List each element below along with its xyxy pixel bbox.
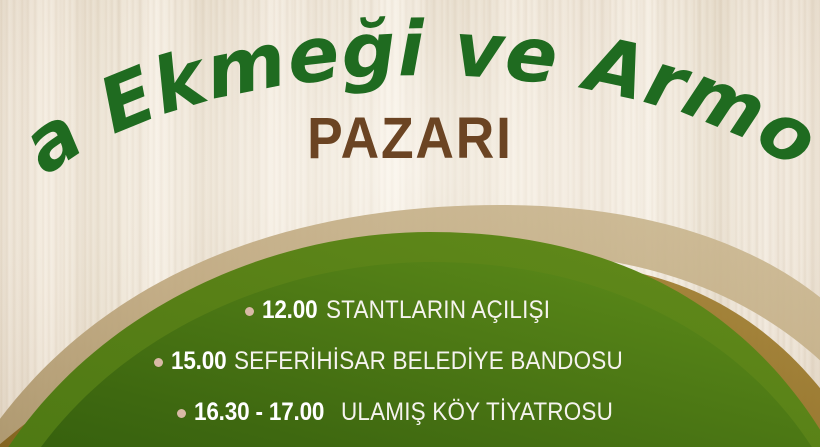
- list-item: 12.00 STANTLARIN AÇILIŞI: [0, 296, 820, 325]
- schedule-label: STANTLARIN AÇILIŞI: [326, 296, 550, 325]
- list-item: 15.00 SEFERİHİSAR BELEDİYE BANDOSU: [0, 347, 820, 376]
- schedule-label: SEFERİHİSAR BELEDİYE BANDOSU: [234, 347, 623, 376]
- bullet-icon: [245, 307, 254, 316]
- poster-canvas: Ata Ekmeği ve Armola PAZARI 12.00 STANTL…: [0, 0, 820, 447]
- schedule-time: 12.00: [262, 296, 317, 325]
- schedule-list: 12.00 STANTLARIN AÇILIŞI 15.00 SEFERİHİS…: [0, 296, 820, 447]
- bullet-icon: [177, 409, 186, 418]
- list-item: 16.30 - 17.00 ULAMIŞ KÖY TİYATROSU: [0, 398, 820, 427]
- schedule-time: 16.30 - 17.00: [194, 398, 324, 427]
- schedule-time: 15.00: [171, 347, 226, 376]
- bullet-icon: [154, 358, 163, 367]
- schedule-label: ULAMIŞ KÖY TİYATROSU: [341, 398, 613, 427]
